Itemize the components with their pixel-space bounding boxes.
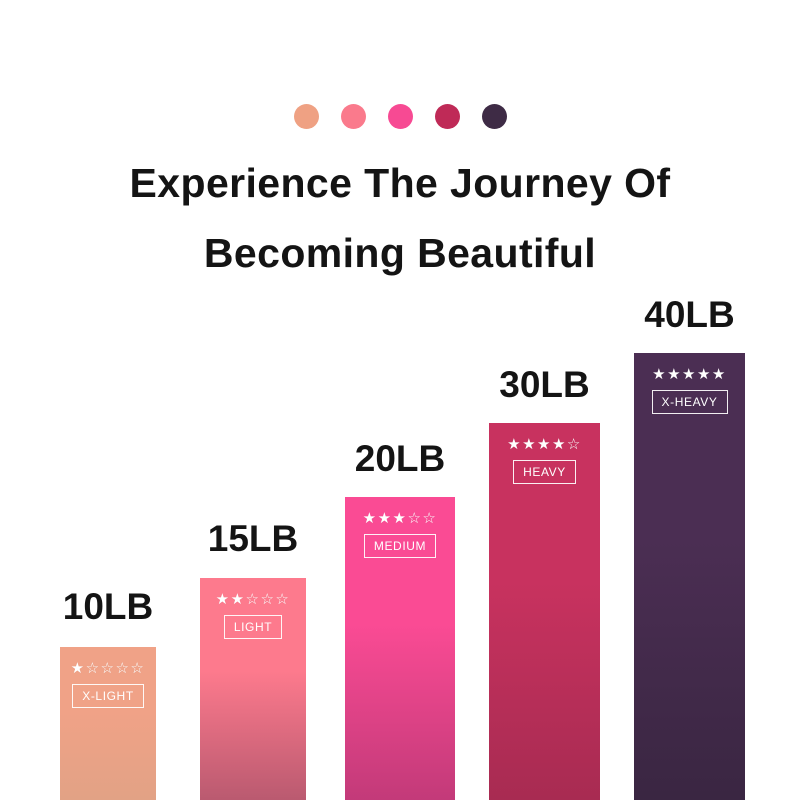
level-badge-heavy: HEAVY: [513, 460, 576, 484]
star-rating-icon-15lb: ★★☆☆☆: [216, 592, 291, 608]
bar-content-20lb: ★★★☆☆MEDIUM: [345, 497, 455, 558]
star-rating-icon-40lb: ★★★★★: [652, 367, 727, 383]
bar-group-10lb[interactable]: 10LB★☆☆☆☆X-LIGHT: [60, 588, 156, 800]
level-badge-medium: MEDIUM: [364, 534, 436, 558]
bar-15lb[interactable]: ★★☆☆☆LIGHT: [200, 578, 306, 800]
level-badge-x-light: X-LIGHT: [72, 684, 144, 708]
bar-content-15lb: ★★☆☆☆LIGHT: [200, 578, 306, 639]
star-rating-icon-20lb: ★★★☆☆: [363, 511, 438, 527]
resistance-band-bar-chart: 10LB★☆☆☆☆X-LIGHT15LB★★☆☆☆LIGHT20LB★★★☆☆M…: [0, 0, 800, 800]
bar-value-label-30lb: 30LB: [499, 366, 589, 403]
bar-value-label-10lb: 10LB: [63, 588, 153, 625]
bar-group-40lb[interactable]: 40LB★★★★★X-HEAVY: [634, 296, 745, 800]
star-rating-icon-30lb: ★★★★☆: [507, 437, 582, 453]
bar-content-40lb: ★★★★★X-HEAVY: [634, 353, 745, 414]
bar-value-label-15lb: 15LB: [208, 520, 298, 557]
bar-40lb[interactable]: ★★★★★X-HEAVY: [634, 353, 745, 800]
star-rating-icon-10lb: ★☆☆☆☆: [71, 661, 146, 677]
bar-10lb[interactable]: ★☆☆☆☆X-LIGHT: [60, 647, 156, 800]
bar-20lb[interactable]: ★★★☆☆MEDIUM: [345, 497, 455, 800]
bar-content-10lb: ★☆☆☆☆X-LIGHT: [60, 647, 156, 708]
bar-30lb[interactable]: ★★★★☆HEAVY: [489, 423, 600, 800]
level-badge-light: LIGHT: [224, 615, 282, 639]
bar-group-15lb[interactable]: 15LB★★☆☆☆LIGHT: [200, 520, 306, 800]
bar-value-label-20lb: 20LB: [355, 440, 445, 477]
bar-content-30lb: ★★★★☆HEAVY: [489, 423, 600, 484]
bar-group-30lb[interactable]: 30LB★★★★☆HEAVY: [489, 366, 600, 800]
level-badge-x-heavy: X-HEAVY: [652, 390, 728, 414]
bar-value-label-40lb: 40LB: [644, 296, 734, 333]
bar-group-20lb[interactable]: 20LB★★★☆☆MEDIUM: [345, 440, 455, 800]
